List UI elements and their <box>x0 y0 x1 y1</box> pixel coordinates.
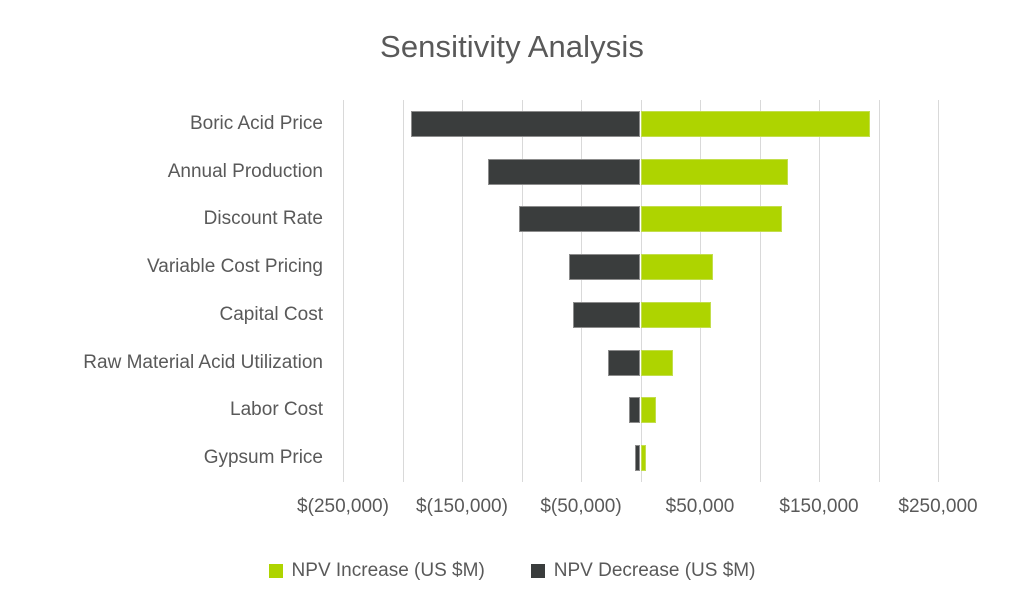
category-label: Labor Cost <box>0 399 323 421</box>
category-label: Discount Rate <box>0 208 323 230</box>
bar-npv-increase[interactable] <box>641 159 789 185</box>
bar-npv-increase[interactable] <box>641 206 783 232</box>
legend-swatch-npv-increase <box>269 564 283 578</box>
bar-row <box>343 159 938 185</box>
gridline <box>403 100 404 482</box>
gridline <box>462 100 463 482</box>
bar-npv-decrease[interactable] <box>608 350 640 376</box>
gridline <box>879 100 880 482</box>
bar-npv-decrease[interactable] <box>569 254 640 280</box>
gridline <box>938 100 939 482</box>
bar-row <box>343 302 938 328</box>
category-label: Capital Cost <box>0 304 323 326</box>
x-tick-label: $(50,000) <box>540 495 621 519</box>
category-axis: Boric Acid PriceAnnual ProductionDiscoun… <box>0 100 323 482</box>
x-tick-label: $(250,000) <box>297 495 389 519</box>
bar-row <box>343 254 938 280</box>
plot-area <box>343 100 938 482</box>
bar-npv-increase[interactable] <box>641 302 711 328</box>
bar-npv-decrease[interactable] <box>573 302 641 328</box>
category-label: Variable Cost Pricing <box>0 256 323 278</box>
bar-row <box>343 206 938 232</box>
x-tick-label: $250,000 <box>898 495 977 519</box>
bar-row <box>343 350 938 376</box>
bar-npv-increase[interactable] <box>641 254 714 280</box>
x-tick-label: $(150,000) <box>416 495 508 519</box>
gridline <box>819 100 820 482</box>
chart-legend: NPV Increase (US $M)NPV Decrease (US $M) <box>0 560 1024 582</box>
bar-row <box>343 397 938 423</box>
gridline <box>522 100 523 482</box>
gridline <box>760 100 761 482</box>
bar-row <box>343 445 938 471</box>
legend-item[interactable]: NPV Decrease (US $M) <box>531 560 756 582</box>
bar-npv-increase[interactable] <box>641 397 656 423</box>
bar-npv-decrease[interactable] <box>488 159 640 185</box>
x-tick-label: $150,000 <box>779 495 858 519</box>
category-label: Gypsum Price <box>0 447 323 469</box>
bar-npv-increase[interactable] <box>641 111 871 137</box>
bar-npv-increase[interactable] <box>641 350 673 376</box>
bar-npv-decrease[interactable] <box>411 111 641 137</box>
category-label: Boric Acid Price <box>0 113 323 135</box>
bar-npv-decrease[interactable] <box>519 206 640 232</box>
chart-title: Sensitivity Analysis <box>0 28 1024 66</box>
bar-npv-increase[interactable] <box>641 445 647 471</box>
category-label: Annual Production <box>0 161 323 183</box>
value-axis: $(250,000)$(150,000)$(50,000)$50,000$150… <box>343 495 938 525</box>
gridline <box>700 100 701 482</box>
sensitivity-analysis-chart: Sensitivity Analysis Boric Acid PriceAnn… <box>0 0 1024 614</box>
gridline <box>581 100 582 482</box>
legend-swatch-npv-decrease <box>531 564 545 578</box>
legend-label: NPV Decrease (US $M) <box>554 560 756 582</box>
category-label: Raw Material Acid Utilization <box>0 352 323 374</box>
bar-row <box>343 111 938 137</box>
x-tick-label: $50,000 <box>666 495 735 519</box>
bar-npv-decrease[interactable] <box>629 397 641 423</box>
gridline <box>343 100 344 482</box>
legend-item[interactable]: NPV Increase (US $M) <box>269 560 485 582</box>
legend-label: NPV Increase (US $M) <box>292 560 485 582</box>
gridline <box>641 100 642 482</box>
